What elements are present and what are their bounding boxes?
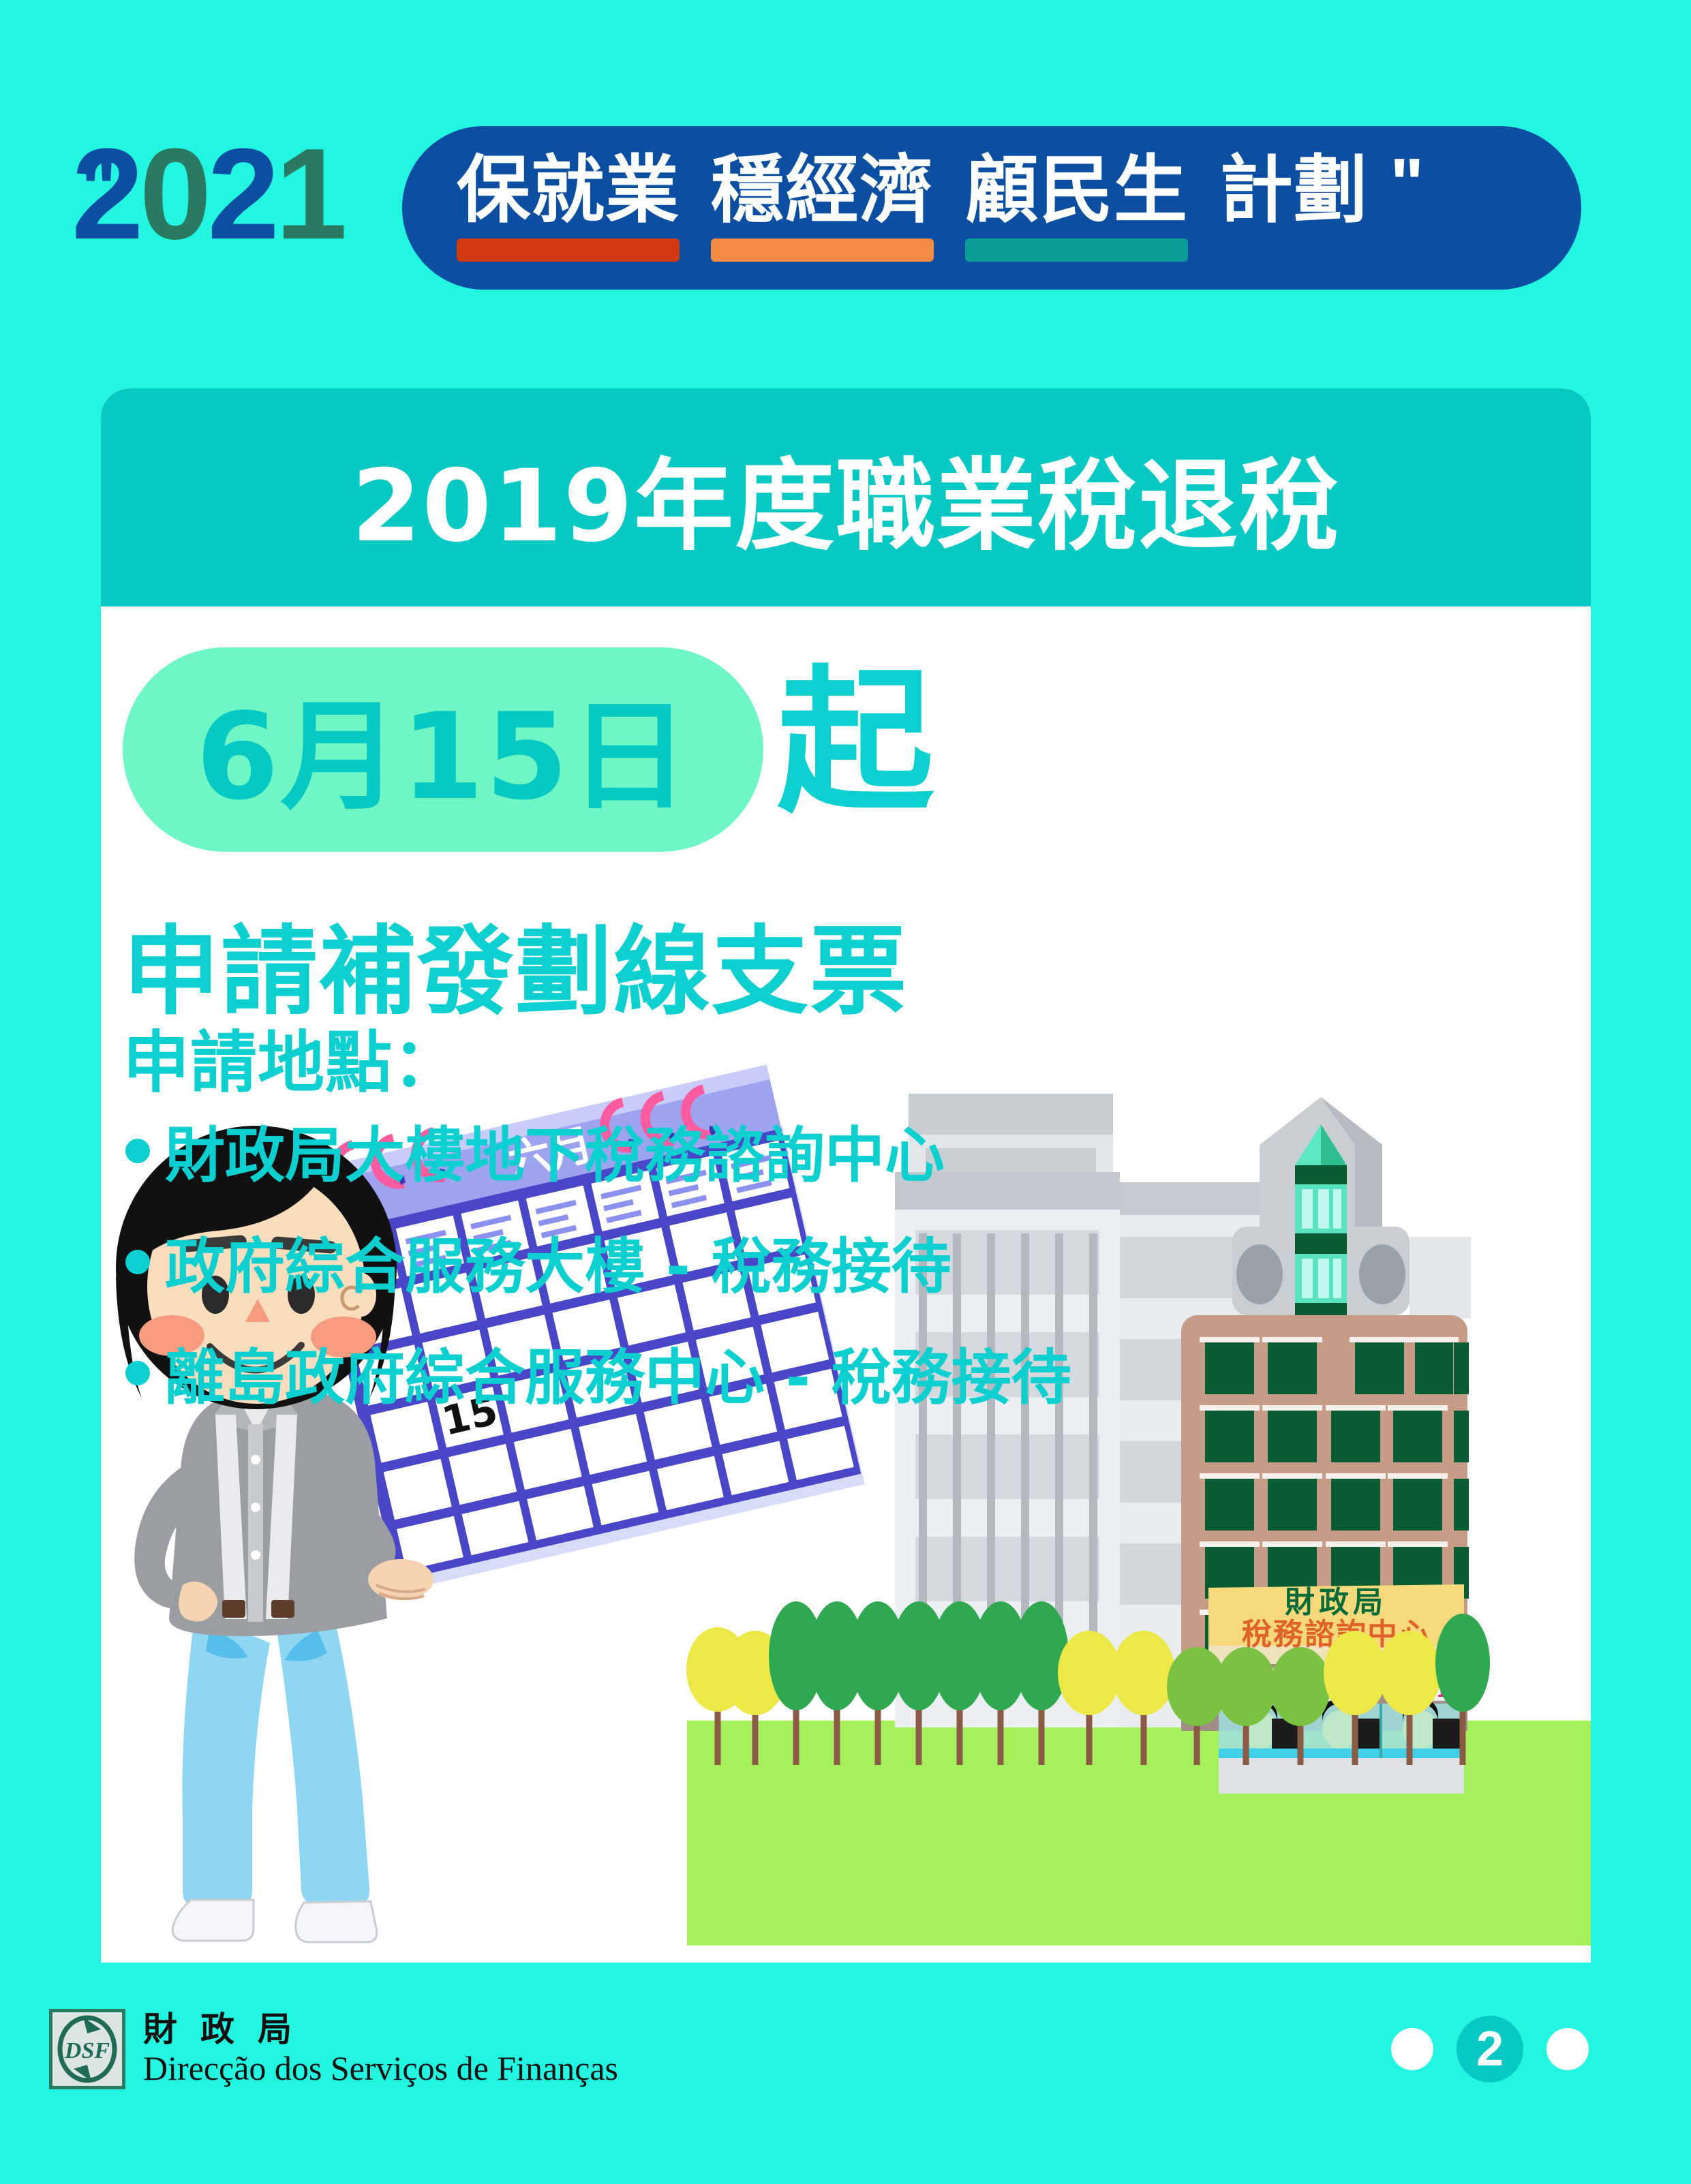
bullet-dot-icon [125, 1361, 150, 1385]
locations-label: 申請地點： [123, 1009, 460, 1105]
slogan-item-2: 穩經濟 [711, 152, 934, 262]
slogan-item-1: 保就業 [457, 152, 680, 262]
poster-header: " 2021 保就業 穩經濟 顧民生 計劃 " [0, 0, 1691, 341]
svg-text:DSF: DSF [64, 2038, 110, 2063]
slogan-bar-4 [1219, 239, 1368, 262]
svg-text:第二稅務中心: 第二稅務中心 [1390, 1670, 1455, 1683]
org-name-cn: 財政局 [143, 2010, 618, 2050]
page-current: 2 [1457, 2016, 1523, 2082]
org-name-pt: Direcção dos Serviços de Finanças [143, 2049, 618, 2089]
tree-row [686, 1601, 1490, 1765]
slogan-text-1: 保就業 [457, 152, 680, 229]
location-text-3: 離島政府綜合服務中心 - 稅務接待 [165, 1329, 1071, 1416]
dsf-logo-block: DSF 財政局 Direcção dos Serviços de Finança… [49, 2009, 618, 2089]
svg-text:1 D1111: 1 D1111 [1308, 1684, 1377, 1701]
list-item: 財政局大樓地下稅務諮詢中心 [125, 1107, 1071, 1194]
slogan-item-3: 顧民生 [965, 152, 1188, 262]
date-row: 6月15日 起 [123, 647, 934, 852]
list-item: 政府綜合服務大樓 - 稅務接待 [125, 1218, 1071, 1305]
counter-placard-1: 第二稅務中心 1 D1110 [1228, 1668, 1298, 1701]
location-text-2: 政府綜合服務大樓 - 稅務接待 [165, 1218, 951, 1305]
slogan-text-4: 計劃 [1219, 152, 1368, 229]
poster-footer: DSF 財政局 Direcção dos Serviços de Finança… [0, 1976, 1691, 2184]
slogan-bar-2 [711, 239, 934, 262]
page-indicator: 2 [1391, 2016, 1589, 2082]
bullet-dot-icon [125, 1250, 150, 1274]
date-badge-text: 6月15日 [196, 660, 690, 833]
year-digit-3: 2 [207, 129, 275, 259]
svg-text:1 D1110: 1 D1110 [1228, 1684, 1298, 1701]
list-item: 離島政府綜合服務中心 - 稅務接待 [125, 1329, 1071, 1416]
year-digit-2: 0 [140, 129, 208, 259]
dsf-logo-icon: DSF [49, 2009, 125, 2089]
date-suffix: 起 [777, 665, 934, 822]
svg-text:第二稅務中心: 第二稅務中心 [1230, 1670, 1296, 1683]
svg-text:第二稅務中心: 第二稅務中心 [1310, 1670, 1375, 1683]
quote-close-mark: " [1390, 152, 1424, 217]
building-sign-line1: 財政局 [1285, 1585, 1387, 1620]
counter-placard-3: 第二稅務中心 1 D1112 [1388, 1668, 1457, 1701]
page-title: 2019年度職業稅退稅 [352, 426, 1340, 570]
date-badge: 6月15日 [123, 647, 763, 852]
building-sign-line2: 稅務諮詢中心 [1242, 1617, 1430, 1652]
year-digit-4: 1 [275, 129, 344, 259]
dsf-logo-text: 財政局 Direcção dos Serviços de Finanças [143, 2010, 618, 2089]
locations-list: 財政局大樓地下稅務諮詢中心 政府綜合服務大樓 - 稅務接待 離島政府綜合服務中心… [125, 1107, 1071, 1416]
year-digit-1: 2 [72, 129, 140, 259]
location-text-1: 財政局大樓地下稅務諮詢中心 [165, 1107, 945, 1194]
year-label: 2021 [72, 129, 344, 259]
slogan-item-4: 計劃 [1219, 152, 1368, 262]
page-dot-prev[interactable] [1391, 2028, 1433, 2070]
slogan-text-3: 顧民生 [965, 152, 1188, 229]
counter-placard-2: 第二稅務中心 1 D1111 [1308, 1668, 1377, 1701]
card-title-bar: 2019年度職業稅退稅 [101, 388, 1591, 606]
slogan-bar-3 [965, 239, 1188, 262]
slogan-bar-1 [457, 239, 680, 262]
bullet-dot-icon [125, 1139, 150, 1163]
slogan-banner: 保就業 穩經濟 顧民生 計劃 " [402, 126, 1581, 290]
svg-text:1 D1112: 1 D1112 [1388, 1684, 1457, 1701]
page-dot-next[interactable] [1547, 2028, 1589, 2070]
slogan-text-2: 穩經濟 [711, 152, 934, 229]
content-card: 2019年度職業稅退稅 [101, 388, 1591, 1963]
